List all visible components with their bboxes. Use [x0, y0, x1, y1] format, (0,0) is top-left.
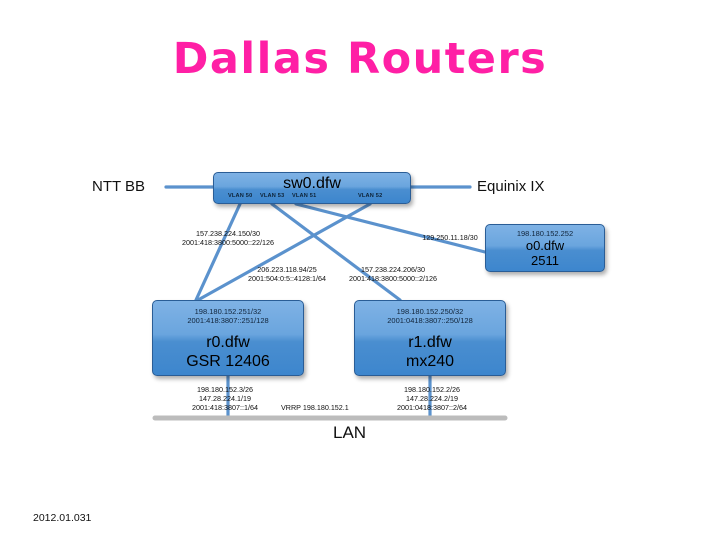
annotation-equinix-peering-v4: 206.223.118.94/25 [232, 265, 342, 274]
annotation-ntt-transit-r1-v4: 157.238.224.206/30 [337, 265, 449, 274]
node-o0-name: o0.dfw [486, 238, 604, 253]
slide-canvas: Dallas Routers NTT BB Equinix IX LAN sw0… [0, 0, 720, 540]
label-lan: LAN [333, 423, 366, 443]
annotation-vrrp: VRRP 198.180.152.1 [281, 403, 349, 412]
annotation-ntt-transit-r1: 157.238.224.206/30 2001:418:3800:5000::2… [337, 265, 449, 283]
node-r1-name: r1.dfw [355, 325, 505, 352]
annotation-lan-left: 198.180.152.3/26 147.28.224.1/19 2001:41… [162, 385, 288, 413]
annotation-ntt-transit-v4: 157.238.224.150/30 [166, 229, 290, 238]
annotation-lan-right-v4-a: 198.180.152.2/26 [366, 385, 498, 394]
slide-footer-date: 2012.01.031 [33, 512, 91, 524]
annotation-lan-left-v4-b: 147.28.224.1/19 [162, 394, 288, 403]
node-r1-model: mx240 [355, 352, 505, 371]
node-sw0-dfw[interactable]: sw0.dfw VLAN 50 VLAN 53 VLAN 51 VLAN 52 [213, 172, 411, 204]
annotation-equinix-peering-v6: 2001:504:0:5::4128:1/64 [232, 274, 342, 283]
vlan-label-53: VLAN 53 [260, 193, 284, 200]
vlan-port-row: VLAN 50 VLAN 53 VLAN 51 VLAN 52 [214, 193, 412, 203]
node-r0-address-v4: 198.180.152.251/32 [153, 307, 303, 316]
annotation-ntt-transit: 157.238.224.150/30 2001:418:3800:5000::2… [166, 229, 290, 247]
annotation-oob-link-v4: 129.250.11.18/30 [403, 233, 497, 242]
annotation-lan-right-v4-b: 147.28.224.2/19 [366, 394, 498, 403]
annotation-ntt-transit-v6: 2001:418:3800:5000::22/126 [166, 238, 290, 247]
node-sw0-name: sw0.dfw [214, 173, 410, 193]
vlan-label-50: VLAN 50 [228, 193, 252, 200]
node-r0-dfw[interactable]: 198.180.152.251/32 2001:418:3807::251/12… [152, 300, 304, 376]
node-o0-address: 198.180.152.252 [486, 229, 604, 238]
link-vlan50-r0 [196, 204, 240, 300]
node-r1-address-v4: 198.180.152.250/32 [355, 307, 505, 316]
node-r0-model: GSR 12406 [153, 352, 303, 371]
vlan-label-51: VLAN 51 [292, 193, 316, 200]
annotation-lan-right: 198.180.152.2/26 147.28.224.2/19 2001:04… [366, 385, 498, 413]
link-vlan53-r1 [272, 204, 400, 300]
annotation-ntt-transit-r1-v6: 2001:418:3800:5000::2/126 [337, 274, 449, 283]
node-r0-address-v6: 2001:418:3807::251/128 [153, 316, 303, 325]
link-vlan52-r0 [198, 204, 370, 300]
node-r1-dfw[interactable]: 198.180.152.250/32 2001:0418:3807::250/1… [354, 300, 506, 376]
annotation-equinix-peering: 206.223.118.94/25 2001:504:0:5::4128:1/6… [232, 265, 342, 283]
vlan-label-52: VLAN 52 [358, 193, 382, 200]
node-o0-dfw[interactable]: 198.180.152.252 o0.dfw 2511 [485, 224, 605, 272]
annotation-lan-left-v4-a: 198.180.152.3/26 [162, 385, 288, 394]
node-o0-model: 2511 [486, 253, 604, 268]
annotation-lan-left-v6: 2001:418:3807::1/64 [162, 403, 288, 412]
node-r0-name: r0.dfw [153, 325, 303, 352]
node-r1-address-v6: 2001:0418:3807::250/128 [355, 316, 505, 325]
label-equinix-ix: Equinix IX [477, 178, 545, 195]
annotation-lan-right-v6: 2001:0418:3807::2/64 [366, 403, 498, 412]
annotation-oob-link: 129.250.11.18/30 [403, 233, 497, 242]
label-ntt-bb: NTT BB [92, 178, 145, 195]
